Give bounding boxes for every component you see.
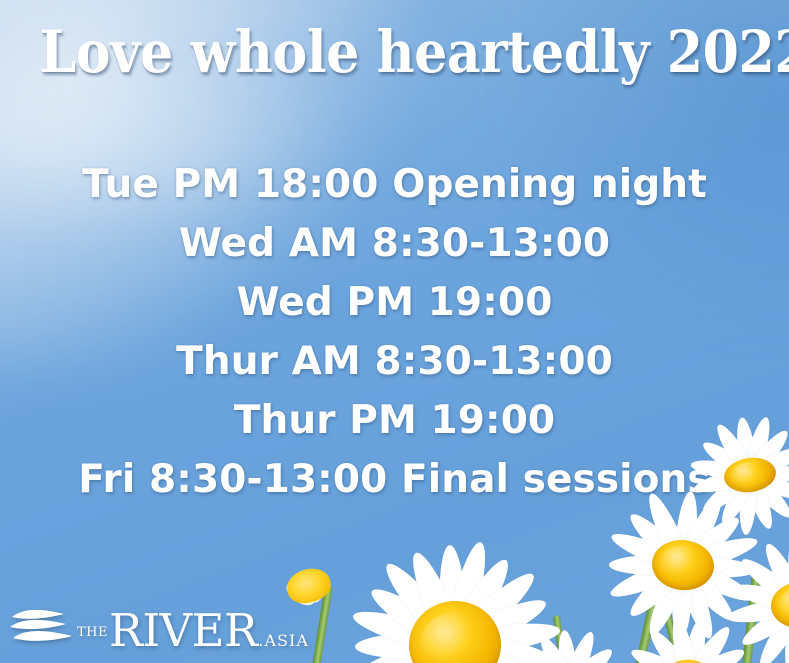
wave-swoosh-icon [10, 605, 74, 649]
schedule-line: Thur AM 8:30-13:00 [0, 332, 789, 391]
schedule-line: Tue PM 18:00 Opening night [0, 155, 789, 214]
river-asia-logo[interactable]: THE RIVER .ASIA [10, 605, 309, 653]
page-title: Love whole heartedly 2022 [39, 23, 749, 81]
schedule-list: Tue PM 18:00 Opening night Wed AM 8:30-1… [0, 155, 789, 509]
schedule-line: Wed PM 19:00 [0, 273, 789, 332]
schedule-line: Fri 8:30-13:00 Final sessions [0, 450, 789, 509]
logo-wordmark: THE RIVER .ASIA [77, 608, 309, 653]
poster-canvas: Love whole heartedly 2022 Tue PM 18:00 O… [0, 0, 789, 663]
logo-the-text: THE [77, 626, 108, 639]
logo-asia-text: .ASIA [258, 633, 308, 649]
schedule-line: Wed AM 8:30-13:00 [0, 214, 789, 273]
logo-river-text: RIVER [109, 608, 257, 653]
schedule-line: Thur PM 19:00 [0, 391, 789, 450]
